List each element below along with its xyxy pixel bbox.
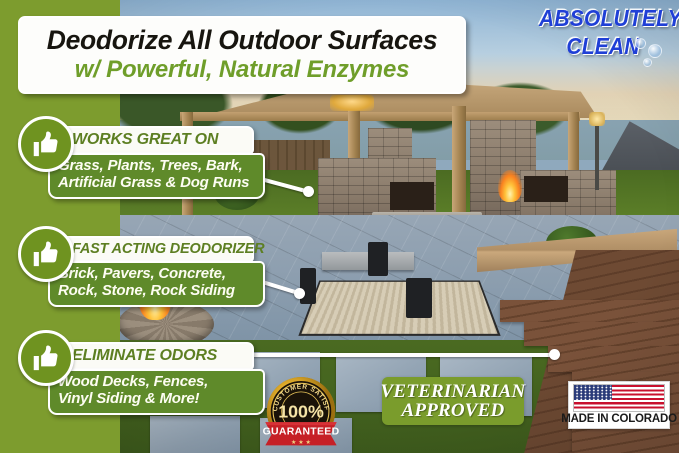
- deck-step-2: [524, 322, 679, 346]
- feature-body-2-line-1: Brick, Pavers, Concrete,: [58, 266, 256, 283]
- pointer-dot-3: [549, 349, 560, 360]
- feature-body-1-line-1: Grass, Plants, Trees, Bark,: [58, 158, 256, 175]
- svg-text:GUARANTEED: GUARANTEED: [263, 426, 340, 437]
- feature-body-3: Wood Decks, Fences, Vinyl Siding & More!: [48, 369, 265, 415]
- veterinarian-line-1: VETERINARIAN: [381, 382, 526, 401]
- bubble-icon-3: [643, 58, 652, 67]
- svg-text:100%: 100%: [278, 401, 324, 421]
- thumbs-up-badge-1: [18, 116, 74, 172]
- deck-step-3: [548, 346, 679, 372]
- product-ad-banner: Deodorize All Outdoor Surfaces w/ Powerf…: [0, 0, 679, 453]
- veterinarian-approved-badge: VETERINARIAN APPROVED: [382, 377, 524, 425]
- bubble-icon-1: [635, 38, 646, 49]
- thumbs-up-badge-3: [18, 330, 74, 386]
- pointer-dot-1: [303, 186, 314, 197]
- headline-line-2: w/ Powerful, Natural Enzymes: [75, 57, 410, 83]
- lamp-post: [595, 120, 599, 190]
- feature-heading-1: WORKS GREAT ON: [46, 126, 254, 154]
- us-flag-icon: [573, 384, 665, 412]
- fireplace-flame: [498, 170, 522, 202]
- deck-step-1: [500, 300, 679, 322]
- feature-body-1-line-2: Artificial Grass & Dog Runs: [58, 175, 256, 192]
- feature-heading-2: FAST ACTING DEODORIZER: [46, 236, 254, 262]
- outdoor-rug: [298, 280, 500, 335]
- thumbs-up-icon: [31, 239, 61, 269]
- made-in-colorado-text: MADE IN COLORADO: [561, 413, 677, 425]
- bubble-icon-2: [648, 44, 662, 58]
- patio-chair-back: [368, 242, 388, 276]
- thumbs-up-icon: [31, 129, 61, 159]
- feature-callout-3: ELIMINATE ODORS Wood Decks, Fences, Viny…: [46, 342, 254, 415]
- thumbs-up-icon: [31, 343, 61, 373]
- stepping-stone-5: [150, 416, 240, 453]
- feature-body-2-line-2: Rock, Stone, Rock Siding: [58, 283, 256, 300]
- fireplace-opening-right: [524, 176, 568, 202]
- made-in-colorado-badge: MADE IN COLORADO: [568, 381, 670, 429]
- feature-heading-3: ELIMINATE ODORS: [46, 342, 254, 370]
- headline-box: Deodorize All Outdoor Surfaces w/ Powerf…: [18, 16, 466, 94]
- feature-body-3-line-2: Vinyl Siding & More!: [58, 391, 256, 408]
- guarantee-seal-icon: CUSTOMER SATISFACTION 100% GUARANTEED ★ …: [262, 374, 340, 450]
- flag-stars: [574, 385, 612, 400]
- patio-chair-left: [300, 268, 316, 304]
- feature-body-3-line-1: Wood Decks, Fences,: [58, 374, 256, 391]
- brand-name-line-2: CLEAN: [539, 35, 667, 59]
- svg-text:★ ★ ★: ★ ★ ★: [291, 439, 311, 446]
- pointer-dot-2: [294, 288, 305, 299]
- thumbs-up-badge-2: [18, 226, 74, 282]
- fireplace-opening-left: [390, 182, 434, 210]
- feature-body-1: Grass, Plants, Trees, Bark, Artificial G…: [48, 153, 265, 199]
- brand-name-line-1: ABSOLUTELY: [539, 7, 667, 31]
- brand-logo: ABSOLUTELY CLEAN: [539, 8, 667, 68]
- feature-callout-2: FAST ACTING DEODORIZER Brick, Pavers, Co…: [46, 236, 254, 307]
- feature-body-2: Brick, Pavers, Concrete, Rock, Stone, Ro…: [48, 261, 265, 307]
- chandelier-light: [330, 95, 374, 111]
- headline-line-1: Deodorize All Outdoor Surfaces: [47, 27, 438, 55]
- patio-chair-front: [406, 278, 432, 318]
- satisfaction-guarantee-seal: CUSTOMER SATISFACTION 100% GUARANTEED ★ …: [262, 374, 340, 450]
- veterinarian-line-2: APPROVED: [402, 401, 505, 420]
- pointer-line-3: [246, 353, 556, 357]
- feature-callout-1: WORKS GREAT ON Grass, Plants, Trees, Bar…: [46, 126, 254, 199]
- lamp-head: [589, 112, 605, 126]
